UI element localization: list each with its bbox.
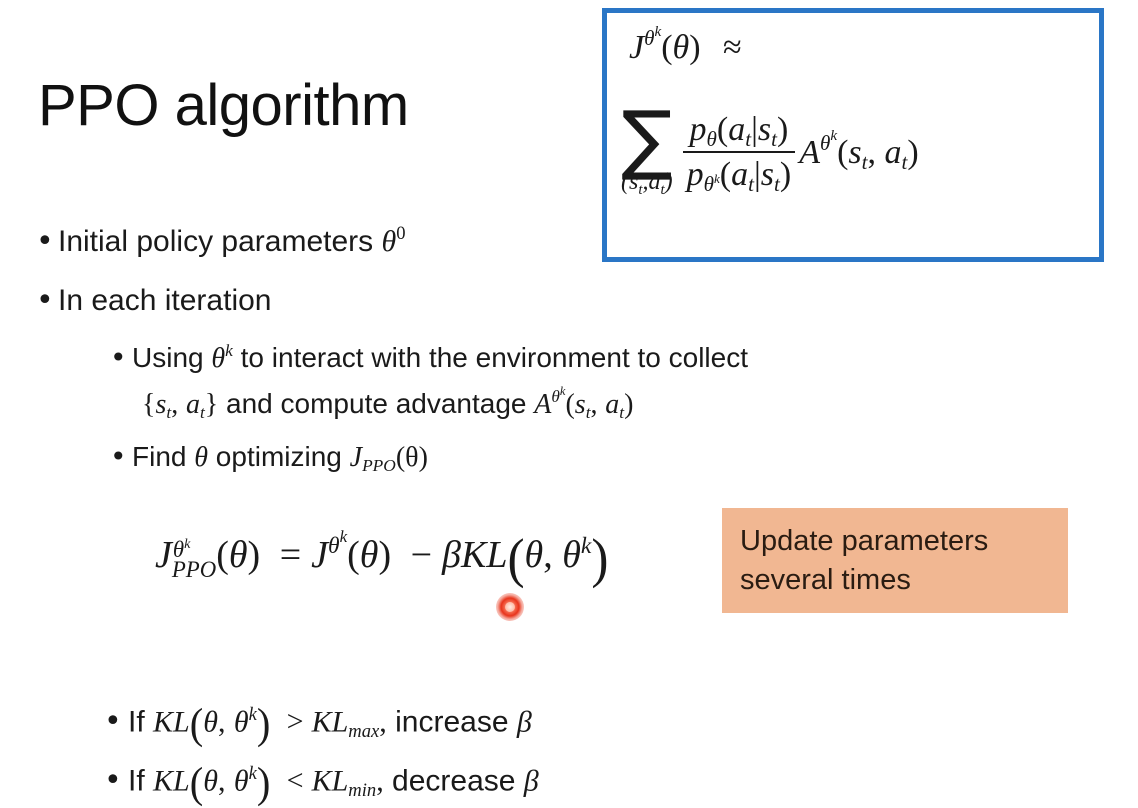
callout-line-2: several times [740,561,1050,600]
kl-max-prefix: If [128,705,153,738]
summation-subscript: (st,at) [621,169,673,196]
eq-J-2: J [311,534,328,576]
eq-KL: KL [461,534,507,576]
adv-rparen: ) [624,389,633,420]
num-lparen: ( [717,111,728,148]
sum-sub-t2: t [660,182,664,198]
action-sub-t: t [200,403,205,422]
sigma-icon: ∑ [621,109,672,168]
theta-symbol: θ [194,442,208,473]
den-s: s [761,156,774,193]
kl-min-theta-1: θ [203,764,218,797]
kl-min-rparen: ) [257,757,271,808]
J-ppo-argument: (θ) [396,442,428,473]
den-lparen: ( [720,156,731,193]
num-a-sub-t: t [745,127,751,151]
num-a: a [728,111,745,148]
sum-sub-t1: t [638,182,642,198]
kl-min-lparen: ( [190,757,204,808]
eq-theta-3: θ [525,534,544,576]
kl-min-relation: < [287,764,304,797]
eq-kl-comma: , [543,534,553,576]
callout-update-parameters: Update parameters several times [722,508,1068,613]
adv-sup-k: k [560,384,566,398]
den-p-sub-k: k [714,171,720,186]
adv-lparen: ( [837,134,848,171]
probability-ratio-fraction: pθ(at|st) pθk(at|st) [683,111,796,194]
eq-theta-1: θ [229,534,248,576]
den-rparen: ) [780,156,791,193]
sum-sub-close: ) [665,169,673,195]
eq-J-sup-k: k [184,536,190,552]
den-s-sub-t: t [774,172,780,196]
adv-A: A [799,134,820,171]
formula-sum-expression: ∑ (st,at) pθ(at|st) pθk(at|st) Aθk(st, a… [621,109,919,196]
eq-rparen-2: ) [378,534,391,576]
eq-theta-4: θ [562,534,581,576]
bullet-marker-icon: • [110,341,132,374]
J-ppo-symbol: J [350,442,362,473]
adv-comma: , [591,389,598,420]
num-p: p [690,111,707,148]
kl-min-theta-sup-k: k [249,763,257,784]
bullet-marker-icon: • [104,763,128,798]
formula-J-sup-k: k [654,23,661,40]
kl-max-limit: KL [312,705,349,738]
ppo-objective-equation: JθkPPO(θ) =Jθk(θ) −βKL(θ, θk) [155,529,608,588]
eq-J2-sup-theta: θ [328,533,340,559]
bullet-using-text-2: to interact with the environment to coll… [233,342,748,373]
kl-max-theta-2: θ [234,705,249,738]
advantage-term: Aθk(st, at) [799,134,918,172]
page-title: PPO algorithm [38,72,409,139]
kl-max-rparen: ) [257,698,271,749]
kl-max-suffix: increase [387,705,517,738]
adv-a: a [605,389,619,420]
fraction-numerator: pθ(at|st) [686,111,793,151]
eq-kl-rparen: ) [591,527,608,591]
bullet-marker-icon: • [36,283,58,318]
set-comma: , [171,389,178,420]
eq-theta4-sup-k: k [581,533,591,559]
den-p-sub-theta: θk [704,172,720,196]
num-bar: | [751,111,758,148]
eq-theta-2: θ [360,534,379,576]
kl-max-limit-sub: max [348,721,379,742]
adv-sup-theta: θ [551,387,560,406]
kl-max-theta-sup-k: k [249,704,257,725]
eq-J: J [155,534,172,576]
kl-min-theta-2: θ [234,764,249,797]
num-s-sub-t: t [771,127,777,151]
summation-operator: ∑ (st,at) [621,109,673,196]
eq-J-sup-sub-stack: θkPPO [172,539,216,582]
kl-min-limit-sub: min [348,780,376,801]
eq-rparen-1: ) [248,534,261,576]
adv-comma: , [868,134,877,171]
bullet-kl-less-than-min: •If KL(θ, θk) <KLmin, decrease β [104,759,539,806]
eq-beta: β [442,534,461,576]
den-a: a [731,156,748,193]
eq-lparen-2: ( [347,534,360,576]
state-sub-t: t [166,403,171,422]
state-s: s [155,389,166,420]
kl-min-beta: β [524,764,539,797]
num-p-sub-theta: θ [707,127,717,151]
laser-pointer-dot [496,593,524,621]
kl-min-suffix: decrease [384,764,524,797]
eq-lparen-1: ( [216,534,229,576]
eq-minus: − [411,534,432,576]
formula-theta-arg-1: θ [673,29,690,66]
adv-s-sub-t: t [586,403,591,422]
eq-J2-sup-k: k [340,527,348,546]
bullet-initial-text: Initial policy parameters [58,225,381,258]
bullet-kl-greater-than-max: •If KL(θ, θk) >KLmax, increase β [104,700,532,747]
bullet-marker-icon: • [36,224,58,259]
kl-min-trailing-comma: , [376,764,384,797]
bullet-initial-policy-parameters: •Initial policy parameters θ0 [36,224,406,259]
set-open-brace: { [142,389,155,420]
adv-s-sub-t: t [862,150,868,174]
formula-box: Jθk(θ) ≈ ∑ (st,at) pθ(at|st) pθk(at|st) … [602,8,1104,262]
bullet-find-text-1: Find [132,441,194,472]
kl-max-comma: , [218,705,226,738]
kl-max-lparen: ( [190,698,204,749]
adv-rparen: ) [907,134,918,171]
kl-min-limit: KL [312,764,349,797]
bullet-using-continuation: {st, at} and compute advantage Aθk(st, a… [142,388,633,421]
adv-A: A [534,389,551,420]
formula-rparen-1: ) [689,29,700,66]
theta-symbol: θ [381,225,396,258]
eq-kl-lparen: ( [507,527,524,591]
formula-lparen-1: ( [661,29,672,66]
formula-J-sup-theta: θ [644,26,654,50]
bullet-find-text-2: optimizing [208,441,350,472]
adv-a: a [885,134,902,171]
adv-a-sub-t: t [619,403,624,422]
approx-icon: ≈ [723,29,742,66]
den-bar: | [754,156,761,193]
kl-max-theta-1: θ [203,705,218,738]
adv-sup-theta: θ [820,131,830,155]
sum-sub-mid: ,a [642,169,660,195]
set-close-brace: } [205,389,218,420]
adv-lparen: ( [565,389,574,420]
adv-s: s [575,389,586,420]
eq-J-sub-ppo: PPO [172,559,216,582]
den-a-sub-t: t [748,172,754,196]
num-s: s [758,111,771,148]
num-rparen: ) [777,111,788,148]
bullet-in-each-iteration: •In each iteration [36,283,271,318]
eq-equals: = [280,534,301,576]
J-ppo-subscript: PPO [362,456,396,475]
bullet-iteration-text: In each iteration [58,284,271,317]
kl-min-KL: KL [153,764,190,797]
formula-J-symbol: J [629,29,644,66]
theta-symbol: θ [211,343,225,374]
formula-objective-approx: Jθk(θ) ≈ [629,29,742,67]
adv-a-sub-t: t [902,150,908,174]
adv-sup-k: k [830,127,837,144]
action-a: a [186,389,200,420]
adv-s: s [848,134,861,171]
callout-line-1: Update parameters [740,522,1050,561]
kl-min-comma: , [218,764,226,797]
fraction-denominator: pθk(at|st) [683,153,796,194]
bullet-using-theta-k: •Using θk to interact with the environme… [110,341,748,375]
compute-advantage-text: and compute advantage [218,388,534,419]
den-p: p [687,156,704,193]
kl-max-relation: > [287,705,304,738]
theta-superscript-k: k [225,341,233,360]
kl-max-KL: KL [153,705,190,738]
bullet-find-theta-optimizing: •Find θ optimizing JPPO(θ) [110,440,428,474]
bullet-using-text-1: Using [132,342,211,373]
theta-superscript-zero: 0 [396,223,405,244]
kl-min-prefix: If [128,764,153,797]
bullet-marker-icon: • [110,440,132,473]
kl-max-trailing-comma: , [379,705,387,738]
sum-sub-open: (s [621,169,638,195]
bullet-marker-icon: • [104,704,128,739]
kl-max-beta: β [517,705,532,738]
